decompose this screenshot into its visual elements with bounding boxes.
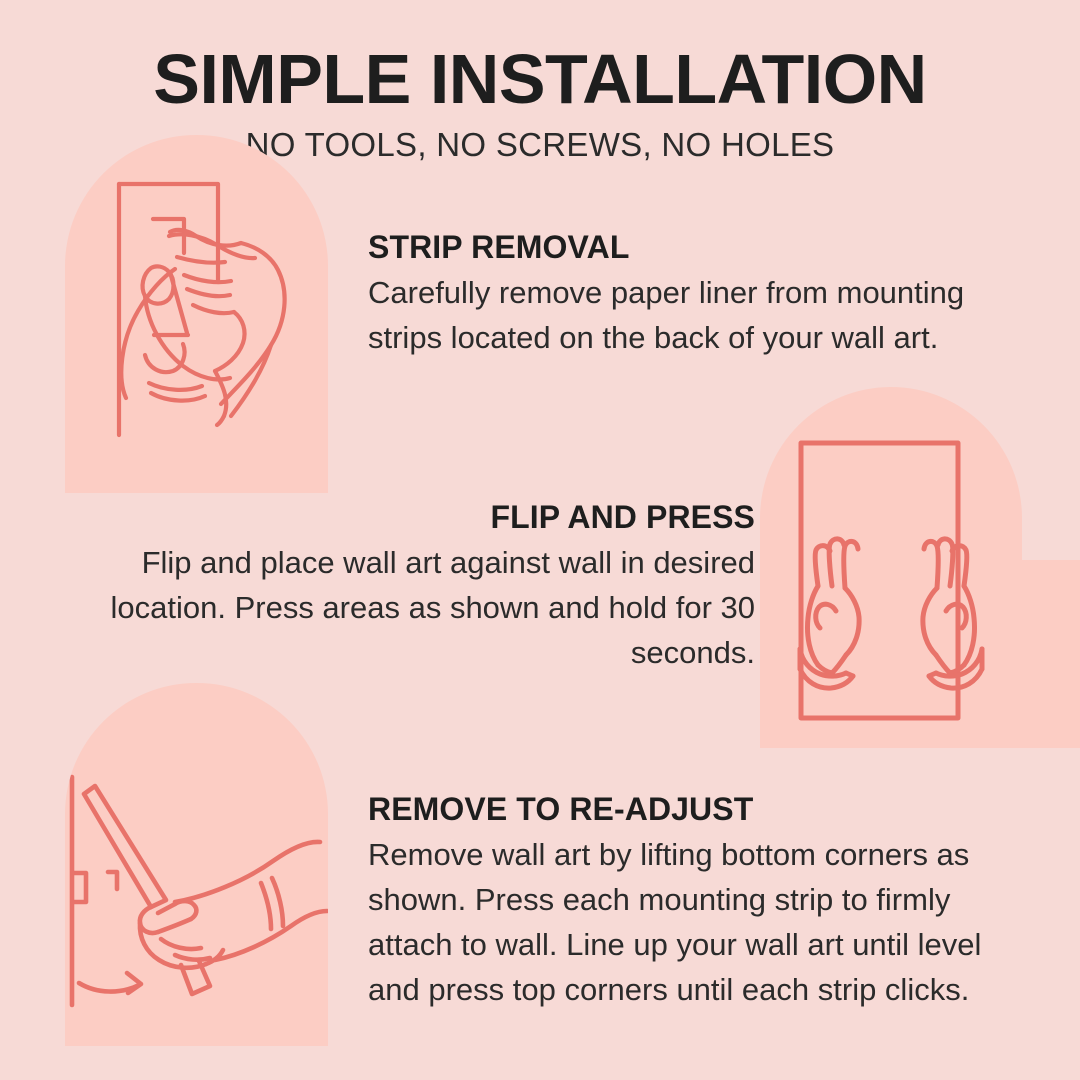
hand-peeling-liner-icon: [65, 135, 328, 493]
arch-bleed-panel: [1022, 560, 1080, 748]
hand-lifting-corner-illustration: [65, 683, 328, 1046]
step-title-remove-to-re-adjust: REMOVE TO RE-ADJUST: [368, 790, 1008, 828]
step-title-flip-and-press: FLIP AND PRESS: [95, 498, 755, 536]
hand-peeling-liner-illustration: [65, 135, 328, 493]
infographic-canvas: SIMPLE INSTALLATION NO TOOLS, NO SCREWS,…: [0, 0, 1080, 1080]
hand-lifting-corner-icon: [65, 683, 328, 1046]
step-title-strip-removal: STRIP REMOVAL: [368, 228, 993, 266]
two-hands-pressing-panel-icon: [760, 387, 1022, 748]
step-body-remove-to-re-adjust: Remove wall art by lifting bottom corner…: [368, 832, 1008, 1012]
step-flip-and-press: FLIP AND PRESS Flip and place wall art a…: [95, 498, 755, 675]
two-hands-pressing-panel-illustration: [760, 387, 1022, 748]
step-remove-to-re-adjust: REMOVE TO RE-ADJUST Remove wall art by l…: [368, 790, 1008, 1012]
step-body-flip-and-press: Flip and place wall art against wall in …: [95, 540, 755, 675]
page-title: SIMPLE INSTALLATION: [0, 43, 1080, 115]
step-body-strip-removal: Carefully remove paper liner from mounti…: [368, 270, 993, 360]
step-strip-removal: STRIP REMOVAL Carefully remove paper lin…: [368, 228, 993, 360]
